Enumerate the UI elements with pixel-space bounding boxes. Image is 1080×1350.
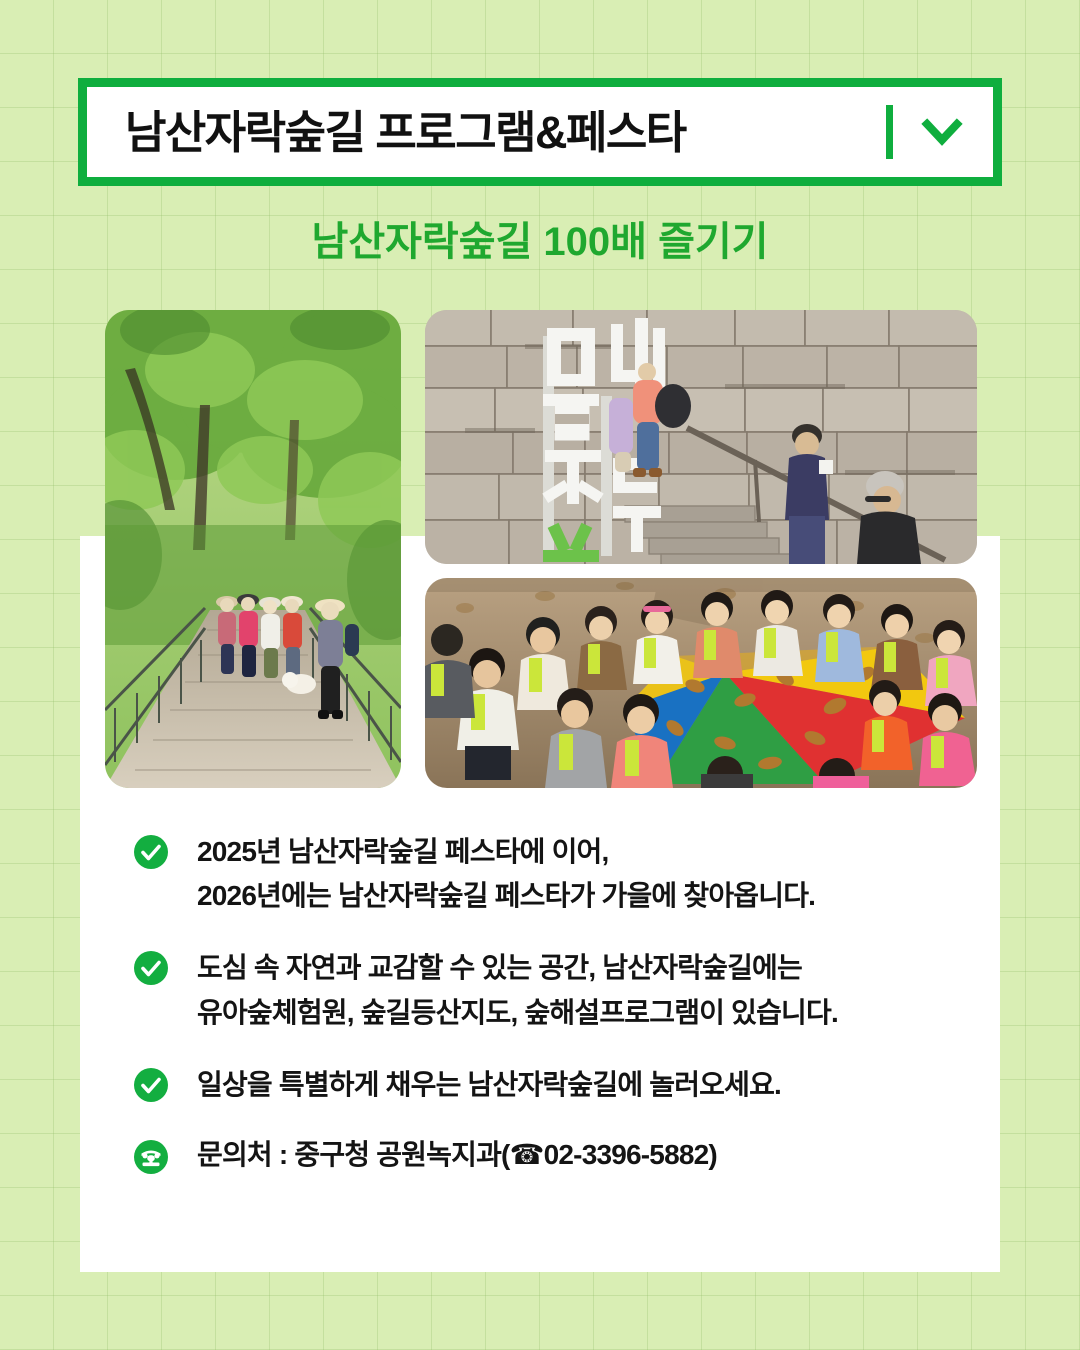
bullet-3-line-1-seg-3: 에 놀러오세요. bbox=[617, 1069, 781, 1100]
list-item: 2025년 남산자락숲길 페스타에 이어, 2026년에는 남산자락숲길 페스타… bbox=[133, 830, 963, 918]
bullet-2-line-2-seg-2: 이 있습니다. bbox=[699, 997, 838, 1028]
check-circle-icon bbox=[133, 834, 169, 870]
header-box[interactable]: 남산자락숲길 프로그램&페스타 bbox=[78, 78, 1002, 186]
list-item: 일상을 특별하게 채우는 남산자락숲길에 놀러오세요. bbox=[133, 1063, 963, 1107]
page-title: 남산자락숲길 프로그램&페스타 bbox=[87, 110, 886, 155]
bullet-1-line-2-seg-2: 남산자락숲길 페스타가 가을에 찾아옵니다. bbox=[338, 880, 815, 911]
bullet-1-line-1-seg-1: 2025년 남산자락숲길 페스타에 이어, bbox=[197, 836, 609, 867]
check-circle-icon bbox=[133, 950, 169, 986]
subtitle: 남산자락숲길 100배 즐기기 bbox=[0, 218, 1080, 266]
bullet-2-line-1-seg-3: 에는 bbox=[752, 952, 802, 983]
bullet-2-line-1-seg-2: 남산자락숲길 bbox=[602, 952, 752, 983]
bullet-1-line-2-seg-1: 2026년에는 bbox=[197, 880, 338, 911]
list-item: 도심 속 자연과 교감할 수 있는 공간, 남산자락숲길에는 유아숲체험원, 숲… bbox=[133, 946, 963, 1034]
bullet-text-2: 도심 속 자연과 교감할 수 있는 공간, 남산자락숲길에는 유아숲체험원, 숲… bbox=[197, 946, 838, 1034]
bullet-3-line-1-seg-1: 일상을 특별하게 채우는 bbox=[197, 1069, 468, 1100]
bullet-list: 2025년 남산자락숲길 페스타에 이어, 2026년에는 남산자락숲길 페스타… bbox=[133, 830, 963, 1175]
bullet-text-3: 일상을 특별하게 채우는 남산자락숲길에 놀러오세요. bbox=[197, 1063, 781, 1107]
chevron-down-icon[interactable] bbox=[919, 109, 965, 155]
bullet-3-line-1-seg-2: 남산자락숲길 bbox=[468, 1069, 618, 1100]
header-controls bbox=[886, 105, 993, 159]
contact-row: 문의처 : 중구청 공원녹지과(☎02-3396-5882) bbox=[133, 1135, 963, 1175]
contact-text: 문의처 : 중구청 공원녹지과(☎02-3396-5882) bbox=[197, 1135, 717, 1174]
photo-forest-boardwalk bbox=[105, 310, 401, 788]
bullet-2-line-1-seg-1: 도심 속 자연과 교감할 수 있는 공간, bbox=[197, 952, 602, 983]
header-divider bbox=[886, 105, 893, 159]
phone-circle-icon bbox=[133, 1139, 169, 1175]
bullet-2-line-2-seg-1: 유아숲체험원, 숲길등산지도, 숲해설프로그램 bbox=[197, 997, 699, 1028]
photo-children-forest-program bbox=[425, 578, 977, 788]
bullet-text-1: 2025년 남산자락숲길 페스타에 이어, 2026년에는 남산자락숲길 페스타… bbox=[197, 830, 815, 918]
photo-namsan-sign-fortress-wall bbox=[425, 310, 977, 564]
check-circle-icon bbox=[133, 1067, 169, 1103]
